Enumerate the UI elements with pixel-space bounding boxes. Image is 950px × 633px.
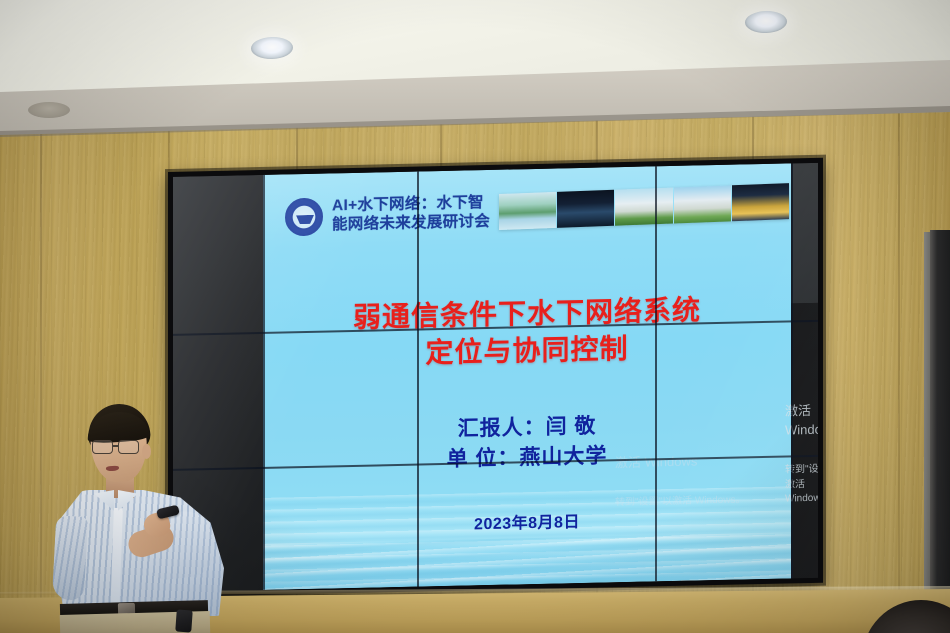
wall-panel-seam: [40, 90, 42, 633]
campus-photo-thumb: [499, 192, 556, 230]
ceiling-speaker-icon: [28, 102, 70, 118]
windows-activation-watermark-overflow: 激活 Windows 转到"设置"以激活 Windows。: [785, 378, 818, 530]
glasses-lens-left: [92, 440, 113, 454]
watermark-title: 激活 Windows: [615, 451, 785, 474]
wall-recess-dark: [930, 230, 950, 633]
wall-panel-seam: [898, 90, 900, 633]
watermark-subtitle: 转到"设置"以激活 Windows。: [615, 493, 785, 511]
led-video-wall[interactable]: AI+水下网络：水下智 能网络未来发展研讨会 弱通信条件下水下网络系统 定位与协…: [168, 158, 823, 597]
glasses-lens-right: [118, 440, 139, 454]
campus-photo-thumb: [674, 185, 731, 223]
presentation-slide: AI+水下网络：水下智 能网络未来发展研讨会 弱通信条件下水下网络系统 定位与协…: [263, 163, 791, 590]
windows-activation-watermark: 激活 Windows 转到"设置"以激活 Windows。: [615, 428, 785, 535]
event-title-text: AI+水下网络：水下智 能网络未来发展研讨会: [332, 194, 490, 235]
watermark-subtitle-overflow: 转到"设置"以激活 Windows。: [785, 463, 818, 508]
campus-photo-thumb: [557, 190, 614, 228]
glasses-icon: [92, 440, 148, 455]
led-panel-dark-top-right: [791, 163, 818, 304]
campus-photo-thumb: [615, 188, 672, 226]
video-wall-screen-area: AI+水下网络：水下智 能网络未来发展研讨会 弱通信条件下水下网络系统 定位与协…: [173, 163, 818, 592]
watermark-title-overflow: 激活 Windows: [785, 402, 818, 441]
campus-photo-thumb: [732, 183, 789, 221]
presenter-left-arm: [52, 515, 88, 601]
university-seal-icon: [285, 198, 323, 237]
conference-room-photo: AI+水下网络：水下智 能网络未来发展研讨会 弱通信条件下水下网络系统 定位与协…: [0, 0, 950, 633]
slide-main-title: 弱通信条件下水下网络系统 定位与协同控制: [263, 289, 791, 375]
presenter-person: [56, 404, 236, 633]
presenter-pocket-device: [175, 609, 192, 632]
